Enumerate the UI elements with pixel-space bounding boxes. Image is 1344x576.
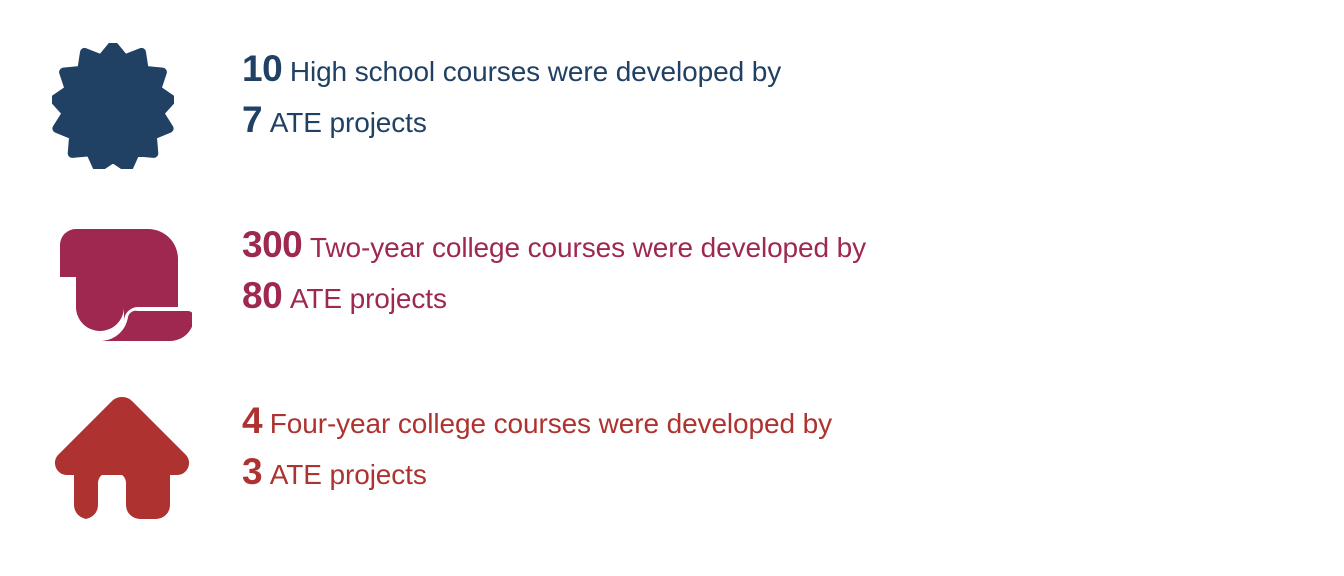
courses-description: High school courses were developed by — [290, 56, 781, 87]
projects-count: 3 — [242, 451, 262, 492]
house-icon — [52, 391, 192, 525]
stat-row-high-school: 10 High school courses were developed by… — [0, 36, 1344, 176]
icon-cell-four-year-college — [0, 388, 242, 528]
text-cell-high-school: 10 High school courses were developed by… — [242, 36, 781, 138]
courses-count: 300 — [242, 224, 302, 265]
stat-line-projects: 80 ATE projects — [242, 277, 866, 314]
projects-spacer — [262, 459, 270, 490]
projects-description: ATE projects — [270, 459, 427, 490]
text-cell-two-year-college: 300 Two-year college courses were develo… — [242, 212, 866, 314]
projects-count: 7 — [242, 99, 262, 140]
projects-description: ATE projects — [270, 107, 427, 138]
stat-line-projects: 7 ATE projects — [242, 101, 781, 138]
courses-label — [282, 56, 290, 87]
infographic-root: 10 High school courses were developed by… — [0, 0, 1344, 576]
courses-description: Four-year college courses were developed… — [270, 408, 832, 439]
stat-row-two-year-college: 300 Two-year college courses were develo… — [0, 212, 1344, 352]
stat-line-courses: 300 Two-year college courses were develo… — [242, 226, 866, 263]
icon-cell-two-year-college — [0, 212, 242, 352]
stat-row-four-year-college: 4 Four-year college courses were develop… — [0, 388, 1344, 528]
courses-spacer — [262, 408, 270, 439]
text-cell-four-year-college: 4 Four-year college courses were develop… — [242, 388, 832, 490]
projects-description: ATE projects — [290, 283, 447, 314]
projects-count: 80 — [242, 275, 282, 316]
stat-line-courses: 10 High school courses were developed by — [242, 50, 781, 87]
stat-line-projects: 3 ATE projects — [242, 453, 832, 490]
courses-spacer — [302, 232, 310, 263]
icon-cell-high-school — [0, 36, 242, 176]
courses-description: Two-year college courses were developed … — [310, 232, 866, 263]
courses-count: 4 — [242, 400, 262, 441]
seal-badge-icon — [52, 43, 174, 169]
courses-count: 10 — [242, 48, 282, 89]
stat-line-courses: 4 Four-year college courses were develop… — [242, 402, 832, 439]
projects-spacer — [282, 283, 290, 314]
projects-spacer — [262, 107, 270, 138]
scroll-diploma-icon — [52, 223, 192, 341]
